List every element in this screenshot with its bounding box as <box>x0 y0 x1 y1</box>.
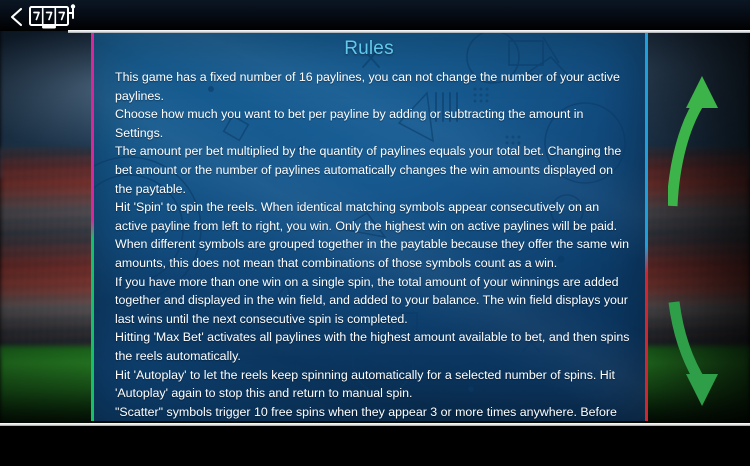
back-button[interactable] <box>8 6 26 28</box>
rules-paragraph: Hitting 'Max Bet' activates all paylines… <box>115 328 631 365</box>
rules-paragraph: The amount per bet multiplied by the qua… <box>115 142 631 198</box>
rules-paragraph: "Scatter" symbols trigger 10 free spins … <box>115 403 631 421</box>
scroll-down-button[interactable] <box>668 300 730 410</box>
slot-machine-777-icon <box>28 4 82 32</box>
panel-right-border <box>645 33 648 421</box>
rules-paragraph: If you have more than one win on a singl… <box>115 273 631 329</box>
rules-paragraph: When different symbols are grouped toget… <box>115 235 631 272</box>
bottom-bar <box>0 426 750 466</box>
top-bar <box>0 0 750 31</box>
rules-text-body: This game has a fixed number of 16 payli… <box>115 68 631 421</box>
footer-divider-line <box>0 423 750 426</box>
game-rules-screen: Rules This game has a fixed number of 16… <box>0 0 750 466</box>
rules-paragraph: This game has a fixed number of 16 payli… <box>115 68 631 105</box>
rules-paragraph: Choose how much you want to bet per payl… <box>115 105 631 142</box>
header-divider-line <box>68 30 750 33</box>
rules-paragraph: Hit 'Spin' to spin the reels. When ident… <box>115 198 631 235</box>
panel-left-border <box>91 33 94 421</box>
scroll-up-button[interactable] <box>668 72 730 212</box>
curved-arrow-up-icon <box>668 72 730 212</box>
curved-arrow-down-icon <box>668 300 730 410</box>
top-bar-background <box>0 0 750 31</box>
slot-machine-button[interactable] <box>28 4 82 32</box>
rules-paragraph: Hit 'Autoplay' to let the reels keep spi… <box>115 366 631 403</box>
page-title: Rules <box>91 38 647 60</box>
rules-panel: Rules This game has a fixed number of 16… <box>91 33 647 421</box>
chevron-left-icon <box>8 6 26 28</box>
